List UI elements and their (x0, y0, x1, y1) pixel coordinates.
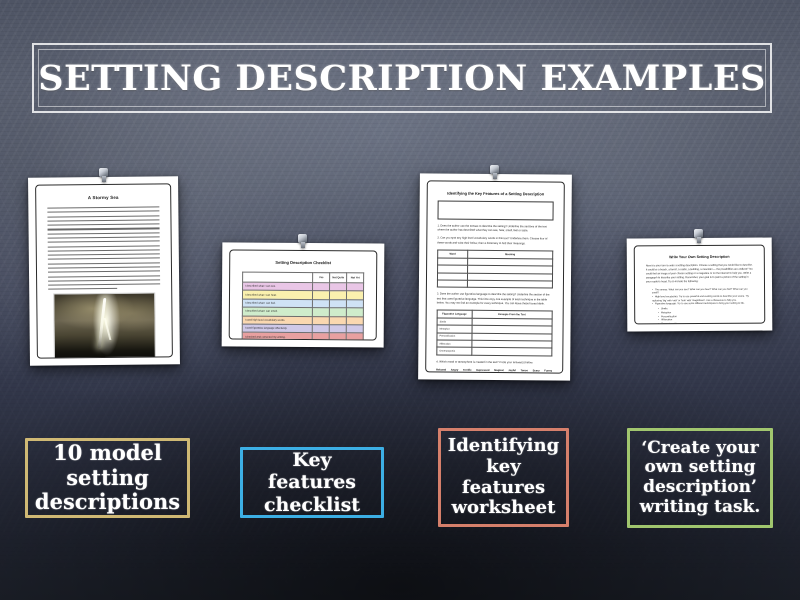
table-row (437, 280, 552, 288)
list-item: Onomatopoeia (658, 322, 753, 325)
caption-model-descriptions: 10 model setting descriptions (25, 438, 190, 518)
mood-word[interactable]: Terrific (463, 369, 472, 372)
document-sheet: Identifying the Key Features of a Settin… (425, 180, 565, 373)
title-banner: SETTING DESCRIPTION EXAMPLES (32, 43, 772, 113)
worksheet-question-3: 3. Does the author use figurative langua… (437, 293, 553, 307)
checklist-cell[interactable] (346, 308, 363, 317)
worksheet-answer-box[interactable] (437, 200, 553, 220)
mood-word[interactable]: Funny (544, 369, 552, 372)
writing-task-body: Now it is your turn to write a setting d… (646, 264, 753, 325)
checklist-cell[interactable] (346, 325, 363, 334)
checklist-cell[interactable] (347, 291, 364, 300)
checklist-cell[interactable] (313, 299, 330, 308)
checklist-cell[interactable] (329, 316, 346, 325)
doc4-title: Write Your Own Setting Description (635, 255, 764, 260)
document-sheet: A Stormy Sea (35, 183, 173, 358)
checklist-cell[interactable] (330, 299, 347, 308)
checklist-col-yes: Yes (313, 273, 330, 283)
caption-text: Key features checklist (246, 449, 378, 515)
word-cell[interactable] (437, 280, 467, 288)
page-title: SETTING DESCRIPTION EXAMPLES (38, 58, 766, 99)
writing-task-bullets: The senses. What can you see? What can y… (652, 287, 753, 306)
checklist-col-notquite: Not Quite (330, 273, 347, 283)
list-item: Figurative language. Try to use some dif… (652, 302, 753, 306)
chalkboard-slide: SETTING DESCRIPTION EXAMPLES A Stormy Se… (0, 0, 800, 600)
caption-key-features-checklist: Key features checklist (240, 447, 384, 518)
checklist-cell[interactable] (346, 333, 363, 340)
writing-task-intro: Now it is your turn to write a setting d… (646, 264, 753, 285)
pushpin-doc4 (693, 229, 704, 244)
worksheet-body: 1. Does the author use the senses to des… (436, 200, 554, 373)
writing-task-sub-bullets: Simile Metaphor Personification Allitera… (658, 307, 753, 325)
checklist-cell[interactable] (346, 316, 363, 325)
checklist-cell[interactable] (329, 333, 346, 340)
doc1-storm-photo (53, 292, 156, 358)
table-row: Onomatopoeia (437, 347, 552, 355)
checklist-col-blank (243, 272, 313, 282)
col-word: Word (438, 250, 468, 258)
mood-word[interactable]: Scary (533, 369, 540, 372)
caption-identifying-worksheet: Identifying key features worksheet (438, 428, 569, 527)
caption-writing-task: ‘Create your own setting description’ wr… (627, 428, 773, 528)
document-thumbnail-writing-task[interactable]: Write Your Own Setting Description Now i… (627, 237, 773, 331)
document-thumbnail-model-description[interactable]: A Stormy Sea (28, 176, 180, 366)
word-meaning-table: Word Meaning (437, 249, 553, 289)
pushpin-doc3 (489, 165, 500, 180)
pushpin-doc2 (297, 234, 308, 249)
checklist-cell[interactable] (330, 283, 347, 292)
pushpin-neck-icon (102, 176, 106, 182)
checklist-cell[interactable] (312, 325, 329, 334)
checklist-cell[interactable] (329, 308, 346, 317)
checklist-cell[interactable] (312, 316, 329, 325)
caption-text: 10 model setting descriptions (31, 441, 184, 514)
example-cell[interactable] (471, 348, 552, 356)
technique-label: Onomatopoeia (437, 347, 472, 355)
document-thumbnail-checklist[interactable]: Setting Description Checklist Yes Not Qu… (222, 242, 385, 347)
checklist-cell[interactable] (313, 308, 330, 317)
checklist-cell[interactable] (329, 325, 346, 334)
checklist-table: Yes Not Quite Not Yet I described what I… (242, 272, 364, 341)
checklist-cell[interactable] (313, 283, 330, 292)
doc1-body-text (47, 206, 160, 293)
document-sheet: Write Your Own Setting Description Now i… (634, 245, 766, 325)
document-sheet: Setting Description Checklist Yes Not Qu… (229, 249, 378, 340)
lightning-bolt-branch-icon (104, 318, 111, 340)
checklist-cell[interactable] (313, 291, 330, 300)
checklist-col-notyet: Not Yet (347, 273, 364, 283)
checklist-cell[interactable] (347, 283, 364, 292)
mood-word[interactable]: Joyful (508, 369, 516, 372)
worksheet-question-1: 1. Does the author use the senses to des… (437, 224, 553, 233)
mood-word[interactable]: Relaxed (436, 369, 446, 372)
worksheet-question-2: 2. Can you spot any high level vocabular… (437, 237, 553, 246)
pushpin-neck-icon (697, 237, 701, 243)
worksheet-question-4: 4. Which mood or atmosphere is created i… (436, 360, 552, 365)
checklist-label: I checked and corrected my writing. (242, 332, 312, 340)
mood-word[interactable]: Tense (521, 369, 528, 372)
document-thumbnail-worksheet[interactable]: Identifying the Key Features of a Settin… (418, 173, 572, 380)
doc1-title: A Stormy Sea (36, 194, 170, 200)
pushpin-neck-icon (493, 173, 497, 179)
caption-text: Identifying key features worksheet (444, 436, 563, 520)
mood-word[interactable]: Depressed (476, 369, 489, 372)
checklist-cell[interactable] (312, 333, 329, 341)
table-row: I checked and corrected my writing. (242, 332, 363, 340)
checklist-cell[interactable] (330, 291, 347, 300)
doc2-title: Setting Description Checklist (230, 259, 376, 265)
caption-text: ‘Create your own setting description’ wr… (633, 439, 767, 518)
mood-word[interactable]: Angry (451, 369, 459, 372)
pushpin-neck-icon (301, 242, 305, 248)
doc3-title: Identifying the Key Features of a Settin… (428, 190, 564, 196)
mood-word[interactable]: Magical (494, 369, 504, 372)
meaning-cell[interactable] (467, 280, 552, 288)
figurative-language-table: Figurative Language Example From the Tex… (436, 309, 552, 356)
pushpin-doc1 (98, 168, 109, 183)
checklist-cell[interactable] (346, 300, 363, 309)
mood-word-bank: Relaxed Angry Terrific Depressed Magical… (436, 369, 552, 373)
